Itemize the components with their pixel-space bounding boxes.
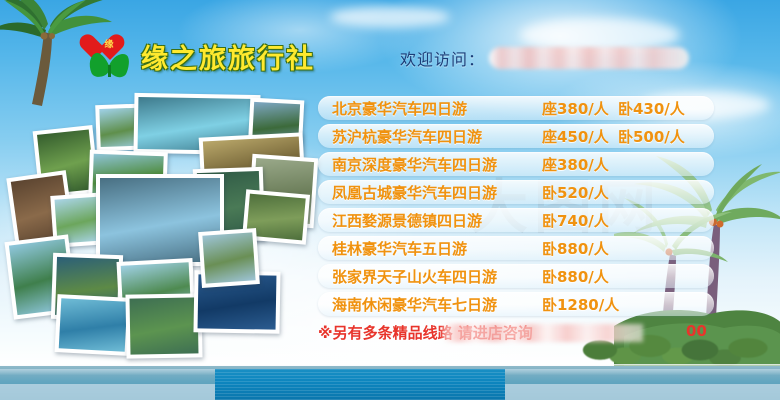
price-row[interactable]: 南京深度豪华汽车四日游座380/人 [318,152,714,176]
collage-photo-image [130,297,199,354]
tour-price-primary: 座450/人 [542,126,609,147]
brand-logo: 缘 缘之旅旅行社 [86,33,315,79]
tour-name: 江西婺源景德镇四日游 [332,210,482,231]
collage-photo [125,293,202,358]
sea-blur-right [505,384,780,400]
photo-collage [4,96,316,354]
heart-in-hands-icon: 缘 [86,33,132,79]
tour-price-primary: 卧520/人 [542,182,609,203]
tour-price-primary: 卧740/人 [542,210,609,231]
hands-shape [89,51,129,77]
tour-name: 苏沪杭豪华汽车四日游 [332,126,482,147]
cloud-decoration [330,6,450,28]
tour-price-primary: 卧880/人 [542,238,609,259]
tour-price-primary: 座380/人 [542,98,609,119]
tour-price-secondary: 卧430/人 [618,98,685,119]
tour-name: 张家界天子山火车四日游 [332,266,497,287]
collage-photo [55,294,132,356]
price-row[interactable]: 江西婺源景德镇四日游卧740/人 [318,208,714,232]
brand-name: 缘之旅旅行社 [141,37,315,76]
sea-blur-left [0,384,215,400]
tour-name: 北京豪华汽车四日游 [332,98,467,119]
tour-name: 桂林豪华汽车五日游 [332,238,467,259]
price-row[interactable]: 海南休闲豪华汽车七日游卧1280/人 [318,292,714,316]
tour-name: 南京深度豪华汽车四日游 [332,154,497,175]
tour-price-primary: 座380/人 [542,154,609,175]
stem-shape [108,65,111,77]
tour-name: 凤凰古城豪华汽车四日游 [332,182,497,203]
welcome-redacted-value [489,47,689,69]
tour-name: 海南休闲豪华汽车七日游 [332,294,497,315]
note-redacted-value [443,324,643,342]
logo-char: 缘 [94,40,124,51]
collage-photo-image [202,232,255,283]
tour-price-secondary: 卧500/人 [618,126,685,147]
price-list: 北京豪华汽车四日游座380/人卧430/人苏沪杭豪华汽车四日游座450/人卧50… [318,96,714,320]
collage-photo [198,228,260,288]
sea-water [215,369,505,400]
welcome-label: 欢迎访问： [400,46,485,70]
collage-photo-image [59,298,128,351]
tour-price-primary: 卧880/人 [542,266,609,287]
note-visible-tail: 00 [686,322,707,340]
price-row[interactable]: 张家界天子山火车四日游卧880/人 [318,264,714,288]
footer-note: ※另有多条精品线路 请进店咨询 00 [318,322,533,343]
welcome-bar: 欢迎访问： [400,46,689,70]
price-row[interactable]: 苏沪杭豪华汽车四日游座450/人卧500/人 [318,124,714,148]
price-row[interactable]: 桂林豪华汽车五日游卧880/人 [318,236,714,260]
price-row[interactable]: 北京豪华汽车四日游座380/人卧430/人 [318,96,714,120]
tour-price-primary: 卧1280/人 [542,294,619,315]
price-row[interactable]: 凤凰古城豪华汽车四日游卧520/人 [318,180,714,204]
travel-agency-poster: 缘 缘之旅旅行社 欢迎访问： 大图网 北京豪华汽车四日游座380/人卧430/人… [0,0,780,400]
